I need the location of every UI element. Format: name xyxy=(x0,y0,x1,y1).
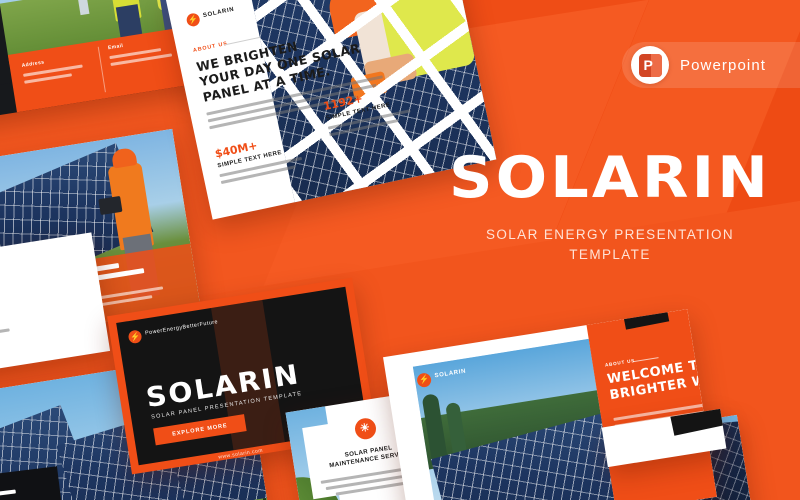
cover-logo-text: PowerEnergyBetterFuture xyxy=(145,319,219,336)
hero-text: SOLARIN SOLAR ENERGY PRESENTATION TEMPLA… xyxy=(430,150,790,264)
powerpoint-badge[interactable]: Powerpoint xyxy=(622,42,800,88)
powerpoint-badge-label: Powerpoint xyxy=(680,57,766,74)
eyebrow: ABOUT US xyxy=(605,358,636,368)
eyebrow: ABOUT US xyxy=(193,41,229,54)
powerpoint-icon xyxy=(631,46,669,84)
service-icon-card-slide[interactable] xyxy=(0,232,110,383)
contact-label: Email xyxy=(108,35,174,51)
poster-canvas: Address Email Phone xyxy=(0,0,800,500)
page-title: SOLARIN xyxy=(419,150,800,207)
page-subtitle: SOLAR ENERGY PRESENTATION TEMPLATE xyxy=(430,225,790,264)
welcome-slide[interactable]: ABOUT US WELCOME TO A BRIGHTER WORLD! ⚡ … xyxy=(383,309,717,500)
welcome-headline: WELCOME TO A BRIGHTER WORLD! xyxy=(606,348,717,404)
slide-logo: SOLARIN xyxy=(203,7,235,20)
